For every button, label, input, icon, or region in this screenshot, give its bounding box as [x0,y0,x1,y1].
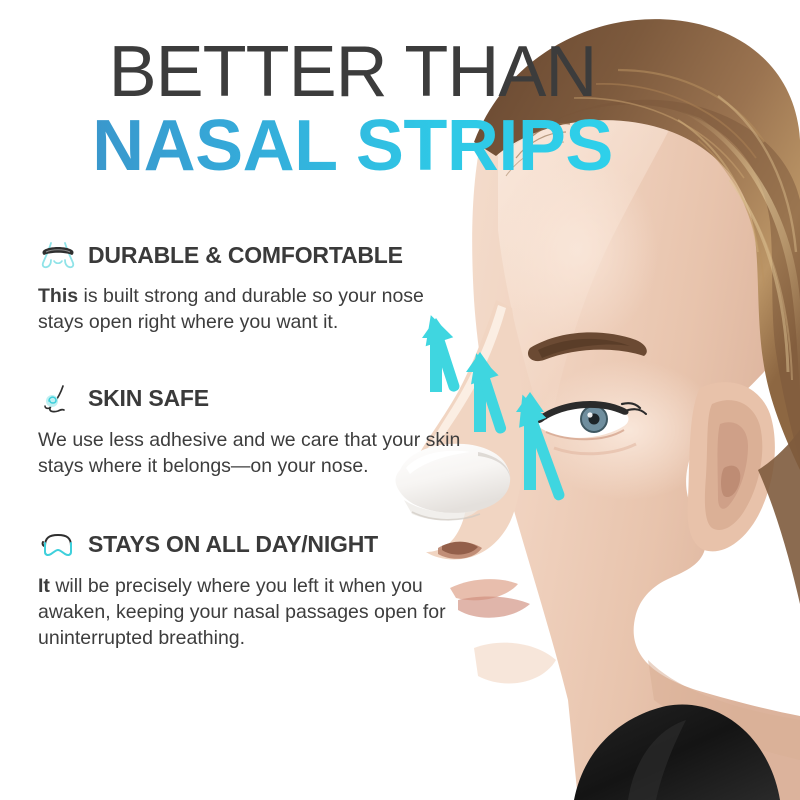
feature-title: DURABLE & COMFORTABLE [88,242,403,269]
feature-body-text: We use less adhesive and we care that yo… [38,429,460,477]
feature-body-lead: It [38,575,50,597]
feature-body-text: is built strong and durable so your nose… [38,285,424,333]
feature-item-durable-comfortable: DURABLE & COMFORTABLE This is built stro… [38,238,508,336]
feature-title: STAYS ON ALL DAY/NIGHT [88,531,378,558]
feature-body-lead: This [38,285,78,307]
feature-list: DURABLE & COMFORTABLE This is built stro… [38,238,508,677]
feature-body-text: will be precisely where you left it when… [38,575,446,649]
feature-heading-row: SKIN SAFE [38,382,508,416]
feature-body: It will be precisely where you left it w… [38,574,468,652]
feature-body: We use less adhesive and we care that yo… [38,428,468,480]
nasal-dilator-device-icon [38,528,78,562]
feature-title: SKIN SAFE [88,385,209,412]
nose-profile-skin-icon [38,382,78,416]
infographic-canvas: BETTER THAN NASAL STRIPS DURABLE & COMFO… [0,0,800,800]
feature-heading-row: DURABLE & COMFORTABLE [38,238,508,272]
feature-body: This is built strong and durable so your… [38,284,468,336]
feature-item-stays-on: STAYS ON ALL DAY/NIGHT It will be precis… [38,528,508,652]
feature-heading-row: STAYS ON ALL DAY/NIGHT [38,528,508,562]
feature-item-skin-safe: SKIN SAFE We use less adhesive and we ca… [38,382,508,480]
nose-front-with-strip-icon [38,238,78,272]
